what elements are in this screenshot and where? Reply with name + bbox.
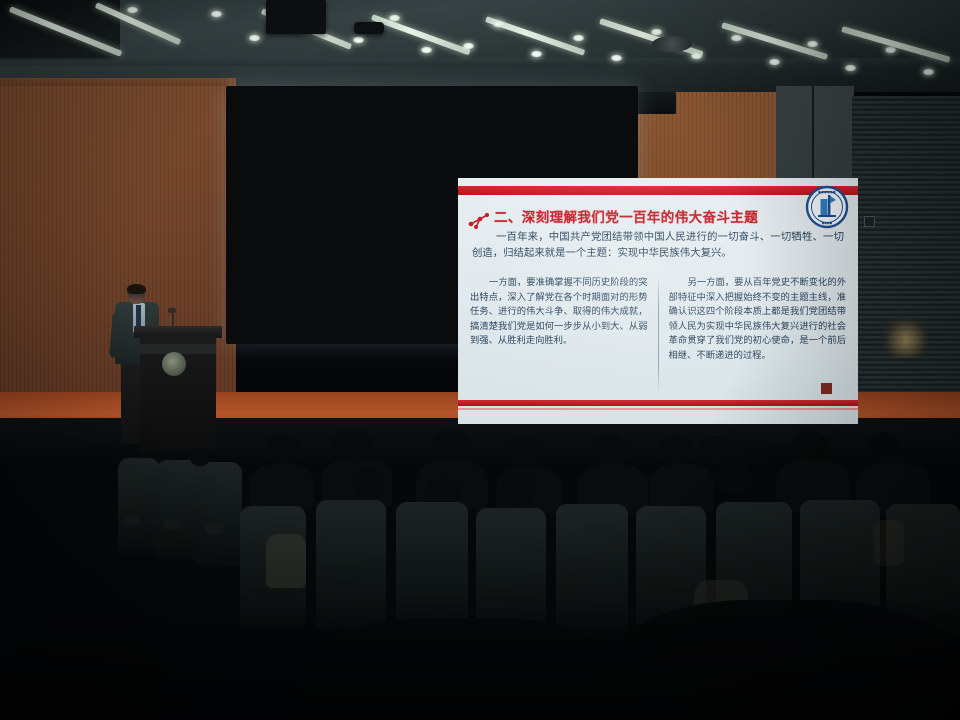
audience-light-clothing — [874, 520, 904, 566]
foreground-person — [610, 600, 960, 720]
foreground-person — [300, 618, 630, 720]
slide-content: 二、深刻理解我们党一百年的伟大奋斗主题 ●●●●●● ●●●● 一百年来，中国共… — [458, 178, 858, 424]
slide-bottom-thin-line — [458, 408, 858, 410]
ceiling-downlight — [248, 34, 261, 42]
wall-trim — [0, 78, 228, 86]
slide-intro-paragraph: 一百年来，中国共产党团结带领中国人民进行的一切奋斗、一切牺牲、一切创造，归结起来… — [472, 230, 844, 261]
empty-seat — [156, 460, 200, 560]
university-emblem: ●●●●●● ●●●● — [804, 184, 850, 230]
ceiling-downlight — [572, 34, 585, 42]
foreground-person — [0, 636, 170, 720]
slide-title: 二、深刻理解我们党一百年的伟大奋斗主题 — [494, 206, 824, 226]
ceiling-downlight — [884, 46, 897, 54]
ceiling-downlight — [844, 64, 857, 72]
audience-seat — [396, 502, 468, 632]
ceiling-projector — [266, 0, 326, 34]
audience-head — [266, 434, 300, 464]
ceiling-downlight — [530, 50, 543, 58]
node-branch-icon — [468, 211, 490, 229]
ceiling-downlight — [922, 68, 935, 76]
audience-seat — [556, 504, 628, 634]
audience-seat — [316, 500, 386, 628]
audience-person — [650, 464, 714, 512]
slide-red-square-mark — [821, 383, 832, 394]
seat-armrest — [164, 520, 180, 529]
audience-head — [660, 434, 692, 464]
presenter-hair — [127, 284, 146, 294]
ceiling-light-strip — [599, 18, 704, 57]
audience-head — [432, 430, 468, 462]
svg-text:●●●●●●: ●●●●●● — [818, 190, 836, 194]
audience-head — [334, 430, 370, 460]
seat-armrest — [124, 516, 140, 525]
audience-head — [700, 436, 730, 464]
ceiling-downlight — [462, 42, 475, 50]
audience-head — [792, 430, 828, 464]
empty-seat — [196, 462, 242, 566]
audience-head — [866, 432, 900, 464]
audience-head — [352, 468, 384, 498]
ceiling-downlight — [352, 36, 365, 44]
projection-screen: 二、深刻理解我们党一百年的伟大奋斗主题 ●●●●●● ●●●● 一百年来，中国共… — [226, 86, 638, 344]
slide-column-left: 一方面，要准确掌握不同历史阶段的突出特点，深入了解党在各个时期面对的形势任务、进… — [470, 276, 648, 394]
presenter-tie — [136, 305, 141, 326]
ceiling-downlight — [768, 58, 781, 66]
ceiling-downlight — [210, 10, 223, 18]
audience-head — [592, 434, 628, 468]
slide-bottom-accent-bar — [458, 400, 858, 406]
empty-seat — [118, 458, 160, 554]
ceiling-downlight — [650, 28, 663, 36]
lecture-hall-photo: 二、深刻理解我们党一百年的伟大奋斗主题 ●●●●●● ●●●● 一百年来，中国共… — [0, 0, 960, 720]
audience-seat — [476, 508, 546, 634]
ceiling-downlight — [492, 20, 505, 28]
column-divider — [658, 276, 659, 394]
svg-text:●●●●: ●●●● — [822, 221, 833, 225]
ceiling-downlight — [730, 34, 743, 42]
ceiling-downlight — [610, 54, 623, 62]
podium-crest — [162, 352, 186, 376]
audience-head — [718, 462, 752, 494]
ceiling-downlight — [806, 40, 819, 48]
ceiling-downlight — [420, 46, 433, 54]
microphone-head — [168, 308, 176, 313]
audience-head — [190, 448, 210, 466]
ceiling-beam — [0, 58, 960, 66]
seat-armrest — [206, 524, 223, 534]
ceiling-downlight — [690, 52, 703, 60]
audience-light-clothing — [266, 534, 306, 588]
ceiling-downlight — [126, 6, 139, 14]
audience-person — [250, 464, 314, 510]
ceiling-downlight — [388, 14, 401, 22]
wall-switch — [864, 216, 875, 227]
slide-top-accent-bar — [458, 186, 858, 195]
audience-head — [508, 438, 542, 470]
slide-column-right: 另一方面，要从百年党史不断变化的外部特征中深入把握始终不变的主题主线，准确认识这… — [669, 276, 847, 394]
louver-light-glow — [884, 318, 928, 358]
audience-head — [500, 472, 536, 506]
ceiling-vent — [652, 36, 692, 52]
slide-two-column-body: 一方面，要准确掌握不同历史阶段的突出特点，深入了解党在各个时期面对的形势任务、进… — [470, 276, 846, 394]
ceiling-speaker — [354, 22, 384, 34]
seated-audience — [0, 430, 960, 720]
